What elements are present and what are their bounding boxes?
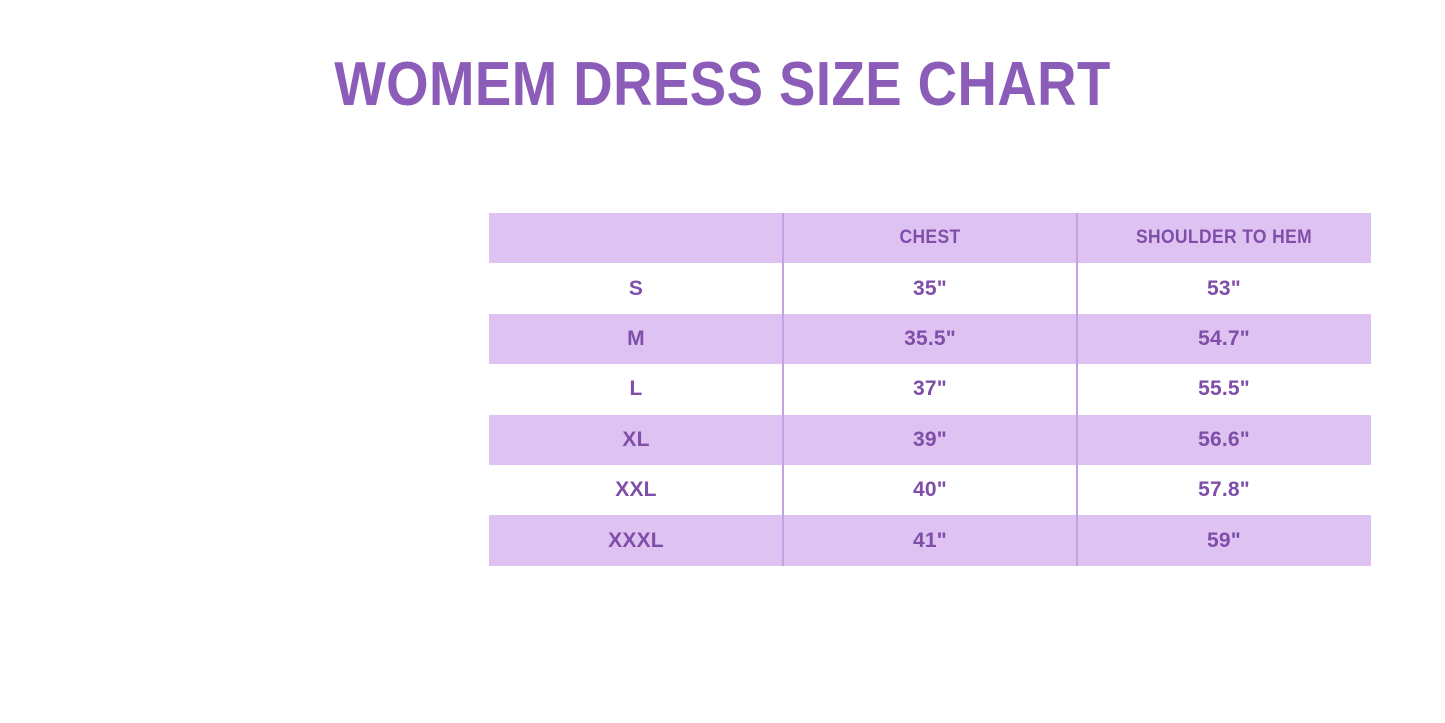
cell-shoulder-to-hem: 56.6" xyxy=(1077,415,1371,465)
cell-size: L xyxy=(489,364,783,414)
column-header-size xyxy=(501,213,771,263)
cell-chest: 40" xyxy=(783,465,1077,515)
cell-size: XXXL xyxy=(489,515,783,565)
table-header: CHEST SHOULDER TO HEM xyxy=(489,213,1371,263)
cell-size: M xyxy=(489,314,783,364)
size-chart-page: WOMEM DRESS SIZE CHART CHEST SHOULDER TO… xyxy=(0,0,1445,723)
cell-shoulder-to-hem: 54.7" xyxy=(1077,314,1371,364)
table-row: XXL 40" 57.8" xyxy=(489,465,1371,515)
table-row: L 37" 55.5" xyxy=(489,364,1371,414)
size-chart-table: CHEST SHOULDER TO HEM S 35" 53" M 35.5" … xyxy=(489,213,1371,566)
cell-size: XXL xyxy=(489,465,783,515)
cell-shoulder-to-hem: 55.5" xyxy=(1077,364,1371,414)
cell-chest: 35" xyxy=(783,263,1077,313)
table-body: S 35" 53" M 35.5" 54.7" L 37" 55.5" XL 3… xyxy=(489,263,1371,565)
cell-shoulder-to-hem: 53" xyxy=(1077,263,1371,313)
table-row: M 35.5" 54.7" xyxy=(489,314,1371,364)
cell-chest: 39" xyxy=(783,415,1077,465)
table-row: XL 39" 56.6" xyxy=(489,415,1371,465)
cell-chest: 41" xyxy=(783,515,1077,565)
column-divider-1 xyxy=(782,213,784,566)
column-header-shoulder-to-hem: SHOULDER TO HEM xyxy=(1089,213,1359,263)
cell-shoulder-to-hem: 59" xyxy=(1077,515,1371,565)
cell-shoulder-to-hem: 57.8" xyxy=(1077,465,1371,515)
column-header-chest: CHEST xyxy=(795,213,1065,263)
table-row: XXXL 41" 59" xyxy=(489,515,1371,565)
column-divider-2 xyxy=(1076,213,1078,566)
cell-size: XL xyxy=(489,415,783,465)
cell-chest: 35.5" xyxy=(783,314,1077,364)
table-header-row: CHEST SHOULDER TO HEM xyxy=(489,213,1371,263)
cell-size: S xyxy=(489,263,783,313)
cell-chest: 37" xyxy=(783,364,1077,414)
page-title: WOMEM DRESS SIZE CHART xyxy=(87,54,1359,116)
table-row: S 35" 53" xyxy=(489,263,1371,313)
